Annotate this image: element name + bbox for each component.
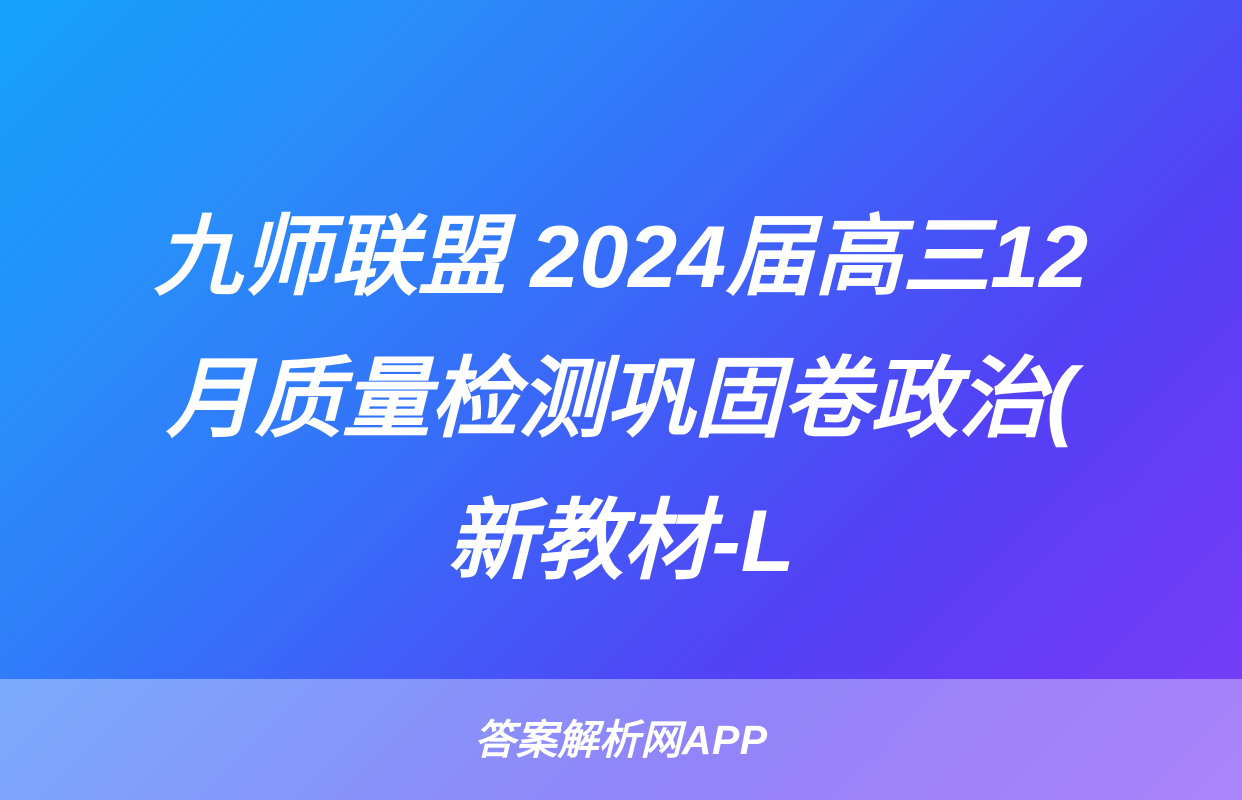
watermark-label: 答案解析网APP bbox=[474, 716, 767, 764]
title-line-3: 新教材-L bbox=[40, 470, 1202, 612]
poster-canvas: 九师联盟 2024届高三12 月质量检测巩固卷政治( 新教材-L 答案解析网AP… bbox=[0, 0, 1242, 800]
title-line-1: 九师联盟 2024届高三12 bbox=[40, 186, 1202, 328]
page-title: 九师联盟 2024届高三12 月质量检测巩固卷政治( 新教材-L bbox=[0, 186, 1242, 612]
title-line-2: 月质量检测巩固卷政治( bbox=[40, 328, 1202, 470]
watermark: 答案解析网APP bbox=[0, 716, 1242, 764]
